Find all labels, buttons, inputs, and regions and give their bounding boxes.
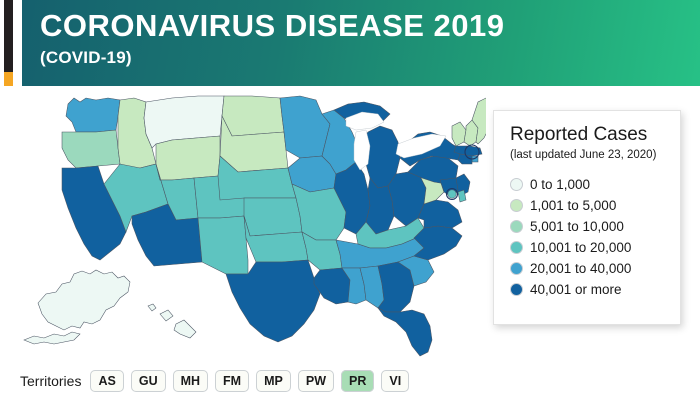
legend-items-list: 0 to 1,0001,001 to 5,0005,001 to 10,0001… bbox=[510, 174, 680, 300]
page-title: CORONAVIRUS DISEASE 2019 bbox=[40, 10, 700, 43]
territories-badge-list: ASGUMHFMMPPWPRVI bbox=[90, 372, 416, 390]
state-NC[interactable] bbox=[414, 226, 462, 260]
map-states bbox=[24, 96, 486, 356]
territory-badge-vi[interactable]: VI bbox=[381, 370, 409, 392]
state-ND[interactable] bbox=[222, 96, 284, 136]
legend-row[interactable]: 1,001 to 5,000 bbox=[510, 195, 680, 216]
legend-label: 0 to 1,000 bbox=[530, 177, 590, 192]
legend-row[interactable]: 5,001 to 10,000 bbox=[510, 216, 680, 237]
legend-swatch-icon bbox=[510, 178, 523, 191]
state-KS[interactable] bbox=[244, 198, 302, 236]
state-WY[interactable] bbox=[156, 136, 220, 180]
state-AK[interactable] bbox=[38, 270, 130, 330]
legend-swatch-icon bbox=[510, 262, 523, 275]
state-VA[interactable] bbox=[418, 200, 462, 228]
left-edge-accent-bar bbox=[4, 72, 13, 86]
legend-title: Reported Cases bbox=[510, 125, 680, 146]
us-choropleth-map[interactable] bbox=[0, 88, 486, 363]
legend-last-updated: (last updated June 23, 2020) bbox=[510, 149, 680, 161]
legend-row[interactable]: 10,001 to 20,000 bbox=[510, 237, 680, 258]
territory-badge-mp[interactable]: MP bbox=[256, 370, 291, 392]
state-WA[interactable] bbox=[66, 98, 120, 132]
territory-badge-pw[interactable]: PW bbox=[298, 370, 334, 392]
legend-swatch-icon bbox=[510, 283, 523, 296]
territory-badge-gu[interactable]: GU bbox=[131, 370, 166, 392]
left-edge-dark-bar bbox=[4, 0, 13, 72]
state-AK-aleutians bbox=[24, 332, 80, 344]
legend-row[interactable]: 0 to 1,000 bbox=[510, 174, 680, 195]
state-NM[interactable] bbox=[198, 216, 248, 274]
state-GA[interactable] bbox=[378, 262, 414, 312]
page-subtitle: (COVID-19) bbox=[40, 48, 700, 68]
territory-badge-mh[interactable]: MH bbox=[173, 370, 208, 392]
territories-row: Territories ASGUMHFMMPPWPRVI bbox=[20, 372, 416, 390]
legend-label: 1,001 to 5,000 bbox=[530, 198, 616, 213]
legend-label: 10,001 to 20,000 bbox=[530, 240, 631, 255]
map-legend: Reported Cases (last updated June 23, 20… bbox=[493, 110, 681, 325]
legend-swatch-icon bbox=[510, 241, 523, 254]
legend-label: 20,001 to 40,000 bbox=[530, 261, 631, 276]
state-MN[interactable] bbox=[280, 96, 330, 158]
state-DC[interactable] bbox=[448, 190, 456, 198]
legend-label: 40,001 or more bbox=[530, 282, 622, 297]
legend-label: 5,001 to 10,000 bbox=[530, 219, 624, 234]
territories-label: Territories bbox=[20, 373, 81, 389]
legend-row[interactable]: 20,001 to 40,000 bbox=[510, 258, 680, 279]
state-FL[interactable] bbox=[378, 308, 432, 356]
lake-michigan bbox=[354, 130, 370, 170]
state-HI[interactable] bbox=[148, 304, 196, 338]
state-VT[interactable] bbox=[452, 122, 466, 146]
state-OR[interactable] bbox=[62, 130, 120, 168]
legend-row[interactable]: 40,001 or more bbox=[510, 279, 680, 300]
legend-swatch-icon bbox=[510, 199, 523, 212]
territory-badge-pr[interactable]: PR bbox=[341, 370, 374, 392]
territory-badge-as[interactable]: AS bbox=[90, 370, 123, 392]
page-header-banner: CORONAVIRUS DISEASE 2019 (COVID-19) bbox=[22, 0, 700, 86]
territory-badge-fm[interactable]: FM bbox=[215, 370, 249, 392]
legend-swatch-icon bbox=[510, 220, 523, 233]
